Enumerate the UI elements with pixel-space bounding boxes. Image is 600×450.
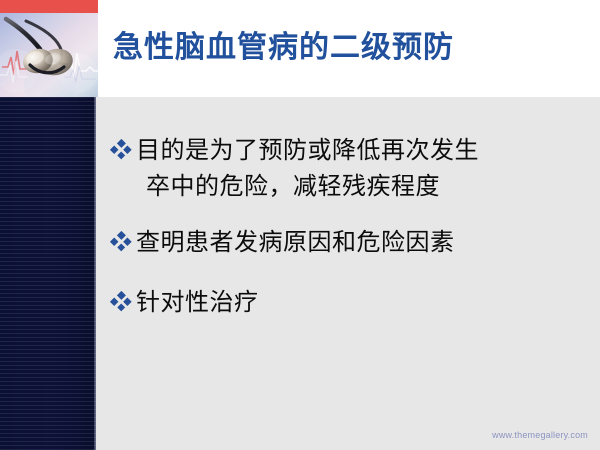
bullet-list: 目的是为了预防或降低再次发生 卒中的危险，减轻残疾程度 查明患者发病原因和危险因… (110, 133, 586, 337)
list-item-text: 针对性治疗 (136, 285, 586, 321)
red-accent-bar (0, 0, 98, 13)
navy-striped-sidebar (0, 97, 96, 450)
list-item: 目的是为了预防或降低再次发生 卒中的危险，减轻残疾程度 (110, 133, 586, 205)
diamond-bullet-icon (110, 231, 132, 253)
diamond-bullet-icon (110, 291, 132, 313)
list-item-line1: 查明患者发病原因和危险因素 (136, 230, 455, 256)
list-item: 查明患者发病原因和危险因素 (110, 225, 586, 261)
list-item-line1: 针对性治疗 (136, 290, 259, 316)
list-item: 针对性治疗 (110, 285, 586, 321)
footer-url[interactable]: www.themegallery.com (492, 430, 588, 440)
page-title: 急性脑血管病的二级预防 (113, 28, 583, 68)
list-item-line2: 卒中的危险，减轻残疾程度 (136, 169, 586, 205)
stethoscope-ecg-photo (0, 13, 98, 97)
list-item-text: 查明患者发病原因和危险因素 (136, 225, 586, 261)
diamond-bullet-icon (110, 139, 132, 161)
list-item-text: 目的是为了预防或降低再次发生 卒中的危险，减轻残疾程度 (136, 133, 586, 205)
sidebar-edge-highlight (94, 97, 96, 450)
slide-canvas: 急性脑血管病的二级预防 目的是为了预防或降低再次发生 卒中的危险，减轻残疾程度 (0, 0, 600, 450)
list-item-line1: 目的是为了预防或降低再次发生 (136, 138, 479, 164)
